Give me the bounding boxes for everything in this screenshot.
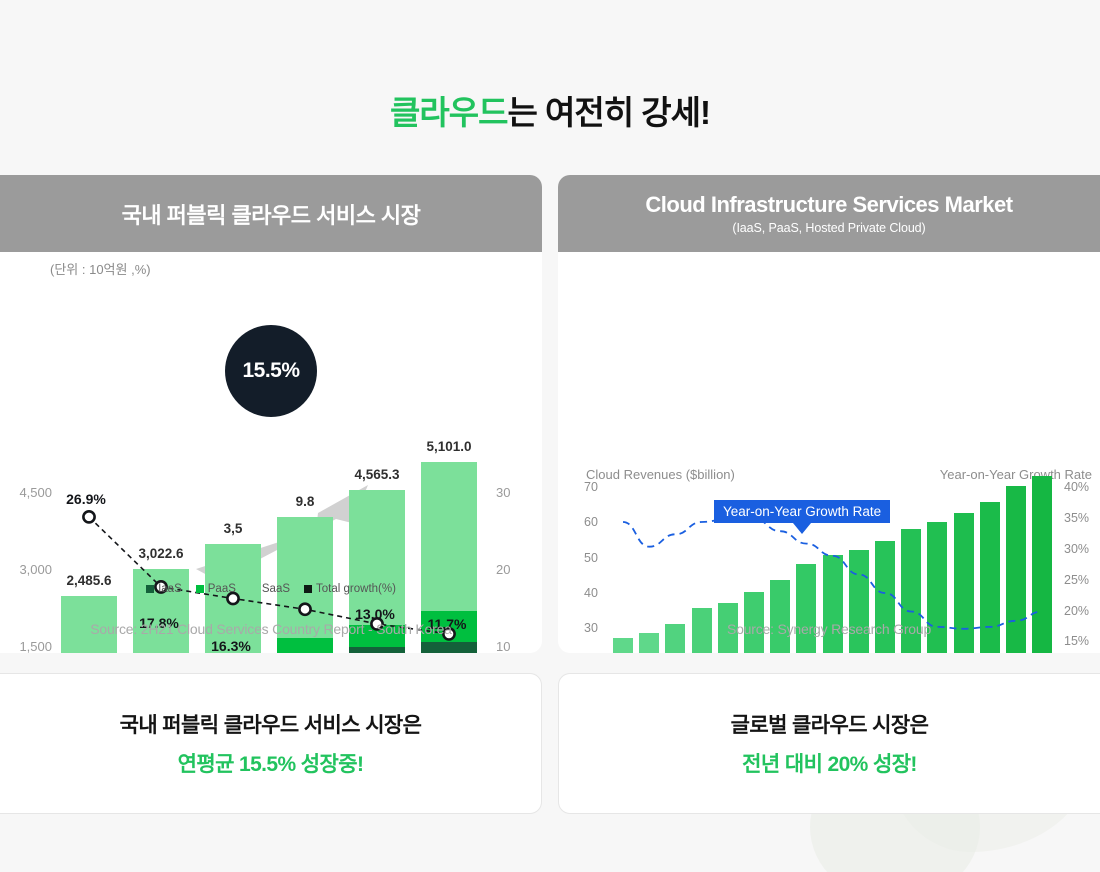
yoy-growth-line xyxy=(558,175,1100,653)
legend-item: SaaS xyxy=(250,583,290,595)
legend-swatch xyxy=(146,585,154,593)
right-summary-line2: 전년 대비 20% 성장! xyxy=(742,748,917,778)
infographic-page: 클라우드는 여전히 강세! 국내 퍼블릭 클라우드 서비스 시장 01,5003… xyxy=(0,0,1100,872)
legend-swatch xyxy=(196,585,204,593)
left-summary-line2: 연평균 15.5% 성장중! xyxy=(178,748,364,778)
page-title-rest: 는 여전히 강세! xyxy=(507,94,710,131)
left-chart-unit-note: (단위 : 10억원 ,%) xyxy=(50,259,151,278)
legend-label: SaaS xyxy=(262,583,290,595)
right-summary-line1: 글로벌 클라우드 시장은 xyxy=(731,709,929,739)
yoy-growth-callout: Year-on-Year Growth Rate xyxy=(714,500,890,523)
right-chart-plot: Cloud Revenues ($billion)Year-on-Year Gr… xyxy=(558,175,1100,653)
callout-tip-icon xyxy=(793,523,811,534)
right-chart-source: Source: Synergy Research Group xyxy=(558,621,1100,637)
legend-label: Total growth(%) xyxy=(316,583,396,595)
yoy-growth-callout-label: Year-on-Year Growth Rate xyxy=(723,504,881,519)
legend-swatch xyxy=(250,585,258,593)
legend-item: IaaS xyxy=(146,583,182,595)
growth-pct-label: 26.9% xyxy=(46,491,126,507)
left-summary-line1: 국내 퍼블릭 클라우드 서비스 시장은 xyxy=(120,709,422,739)
legend-item: Total growth(%) xyxy=(304,583,396,595)
growth-pct-label: 13.0% xyxy=(335,606,415,622)
legend-label: IaaS xyxy=(158,583,182,595)
left-chart-legend: IaaSPaaSSaaSTotal growth(%) xyxy=(0,583,542,595)
page-title: 클라우드는 여전히 강세! xyxy=(0,86,1100,134)
growth-pct-label: 16.3% xyxy=(191,638,271,653)
legend-item: PaaS xyxy=(196,583,236,595)
left-summary-card: 국내 퍼블릭 클라우드 서비스 시장은 연평균 15.5% 성장중! xyxy=(0,673,542,814)
left-chart-source: Source: 2H21 Cloud Services Country Repo… xyxy=(0,621,542,637)
cagr-badge: 15.5% xyxy=(225,325,317,417)
page-title-highlight: 클라우드 xyxy=(390,94,507,131)
right-summary-card: 글로벌 클라우드 시장은 전년 대비 20% 성장! xyxy=(558,673,1100,814)
legend-label: PaaS xyxy=(208,583,236,595)
legend-swatch xyxy=(304,585,312,593)
right-chart-card: Cloud Infrastructure Services Market (Ia… xyxy=(558,175,1100,653)
